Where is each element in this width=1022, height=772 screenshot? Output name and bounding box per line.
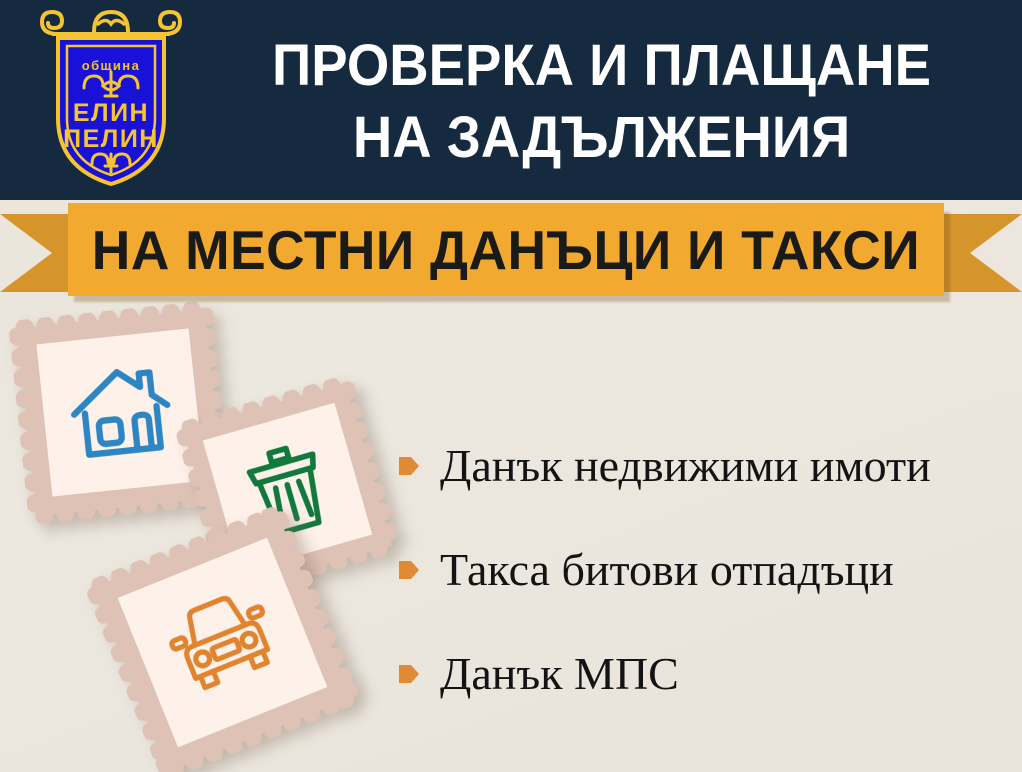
page-title-line-2: НА ЗАДЪЛЖЕНИЯ	[353, 102, 850, 174]
stamp-collage	[0, 295, 420, 772]
page-title-line-1: ПРОВЕРКА И ПЛАЩАНЕ	[273, 30, 932, 102]
list-item-label: Такса битови отпадъци	[440, 545, 894, 595]
header-bar: община ЕЛИН ПЕЛИН	[0, 0, 1022, 200]
svg-text:ПЕЛИН: ПЕЛИН	[63, 125, 159, 153]
bullet-arrow-icon	[398, 661, 420, 687]
list-item-label: Данък недвижими имоти	[440, 441, 931, 491]
list-item[interactable]: Данък МПС	[398, 642, 679, 706]
list-item[interactable]: Данък недвижими имоти	[398, 434, 931, 498]
tax-type-list: Данък недвижими имоти Такса битови отпад…	[398, 420, 1022, 720]
poster-canvas: община ЕЛИН ПЕЛИН	[0, 0, 1022, 772]
subtitle-ribbon: НА МЕСТНИ ДАНЪЦИ И ТАКСИ	[0, 200, 1022, 302]
ribbon-body: НА МЕСТНИ ДАНЪЦИ И ТАКСИ	[68, 203, 944, 296]
bullet-arrow-icon	[398, 453, 420, 479]
svg-text:ЕЛИН: ЕЛИН	[73, 99, 149, 127]
list-item[interactable]: Такса битови отпадъци	[398, 538, 894, 602]
page-title: ПРОВЕРКА И ПЛАЩАНЕ НА ЗАДЪЛЖЕНИЯ	[196, 14, 1008, 190]
bullet-arrow-icon	[398, 557, 420, 583]
ribbon-label: НА МЕСТНИ ДАНЪЦИ И ТАКСИ	[92, 221, 920, 279]
list-item-label: Данък МПС	[440, 649, 679, 699]
municipality-logo: община ЕЛИН ПЕЛИН	[36, 8, 186, 188]
